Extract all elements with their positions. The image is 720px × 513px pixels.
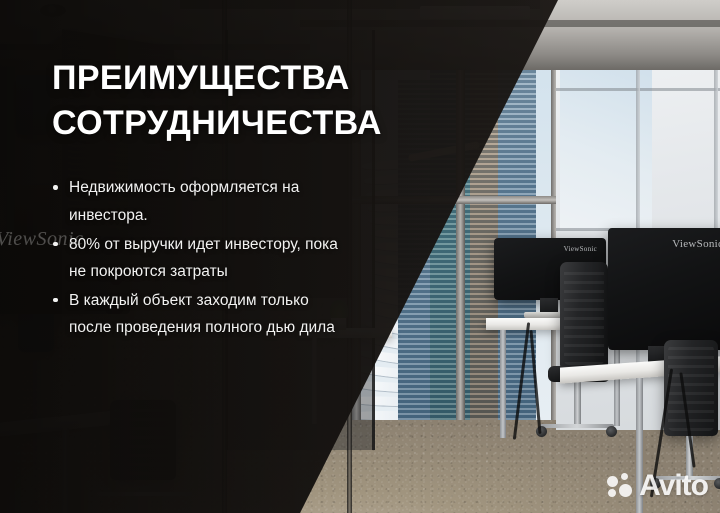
chair-base-middle bbox=[540, 424, 614, 428]
benefit-item-3: В каждый объект заходим только после про… bbox=[52, 287, 352, 342]
avito-watermark: Avito bbox=[607, 471, 708, 501]
slide-headline: ПРЕИМУЩЕСТВА СОТРУДНИЧЕСТВА bbox=[52, 56, 420, 146]
benefit-item-1: Недвижимость оформляется на инвестора. bbox=[52, 174, 352, 229]
chair-caster-f2 bbox=[714, 478, 720, 489]
avito-wordmark: Avito bbox=[639, 471, 708, 501]
promo-slide: ViewSonic ViewSonic bbox=[0, 0, 720, 513]
monitor-middle-brand: ViewSonic bbox=[564, 245, 597, 253]
chair-post-middle bbox=[574, 382, 581, 426]
chair-back-front bbox=[664, 340, 718, 436]
monitor-foreground: ViewSonic bbox=[608, 228, 720, 350]
slide-content: ПРЕИМУЩЕСТВА СОТРУДНИЧЕСТВА Недвижимость… bbox=[0, 0, 420, 513]
headline-line-2: СОТРУДНИЧЕСТВА bbox=[52, 101, 420, 146]
monitor-foreground-brand: ViewSonic bbox=[672, 238, 720, 250]
chair-back-middle bbox=[560, 262, 608, 370]
chair-caster-m2 bbox=[606, 426, 617, 437]
avito-logo-icon bbox=[607, 473, 633, 499]
benefit-item-2: 80% от выручки идет инвестору, пока не п… bbox=[52, 231, 352, 286]
desk-back-leg-left bbox=[500, 330, 506, 438]
benefits-list: Недвижимость оформляется на инвестора. 8… bbox=[52, 174, 420, 341]
headline-line-1: ПРЕИМУЩЕСТВА bbox=[52, 56, 420, 101]
